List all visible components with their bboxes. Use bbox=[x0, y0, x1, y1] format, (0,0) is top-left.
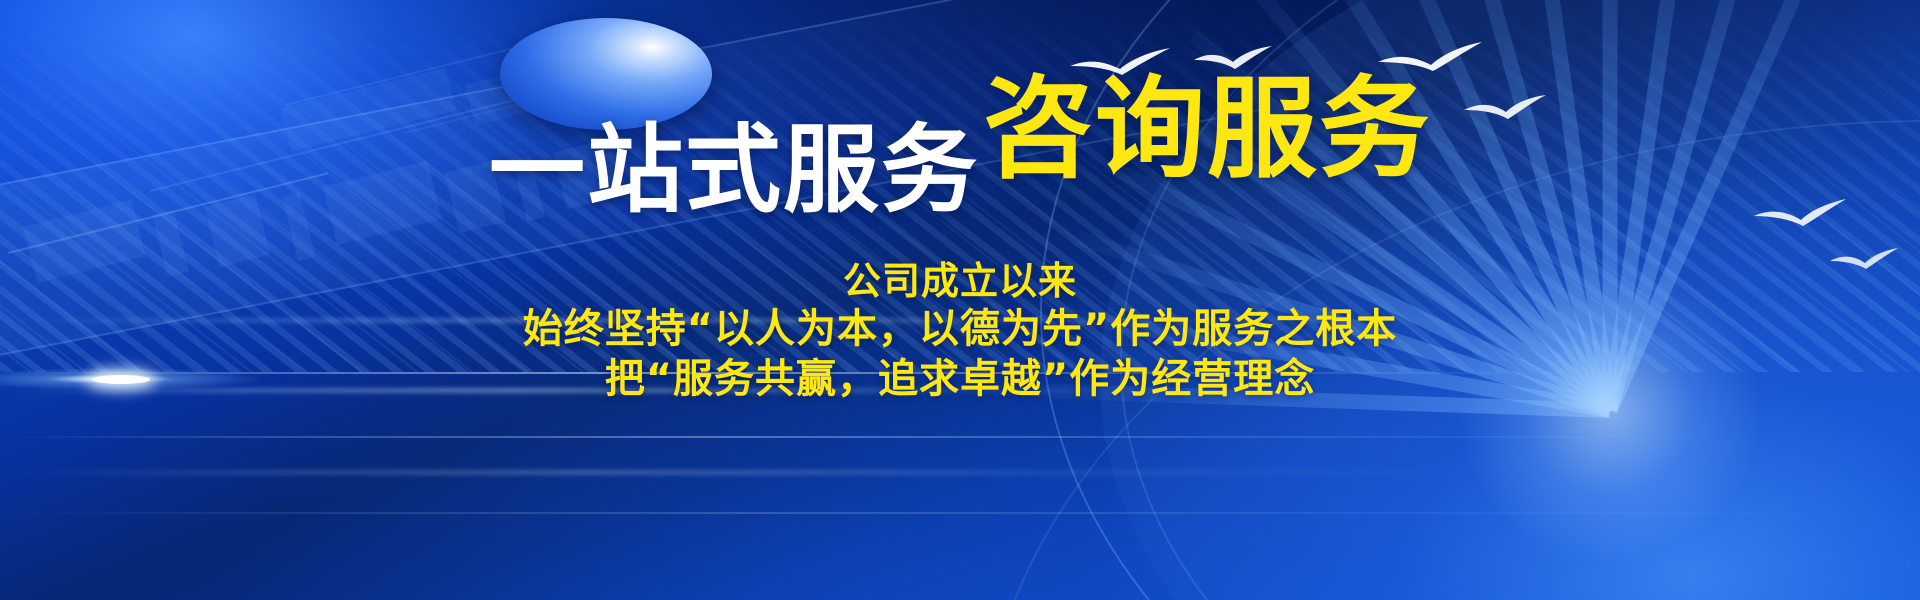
body-line: 把“服务共赢，追求卓越”作为经营理念 bbox=[0, 355, 1920, 405]
body-line: 始终坚持“以人为本，以德为先”作为服务之根本 bbox=[0, 305, 1920, 355]
headline-accent: 咨询服务 bbox=[983, 74, 1431, 184]
body-copy: 公司成立以来 始终坚持“以人为本，以德为先”作为服务之根本 把“服务共赢，追求卓… bbox=[0, 258, 1920, 404]
promo-banner: 一站式服务咨询服务 公司成立以来 始终坚持“以人为本，以德为先”作为服务之根本 … bbox=[0, 0, 1920, 600]
seagull-icon bbox=[1752, 196, 1848, 228]
headline: 一站式服务咨询服务 bbox=[0, 74, 1920, 184]
headline-primary: 一站式服务 bbox=[489, 122, 979, 218]
body-line: 公司成立以来 bbox=[0, 258, 1920, 305]
